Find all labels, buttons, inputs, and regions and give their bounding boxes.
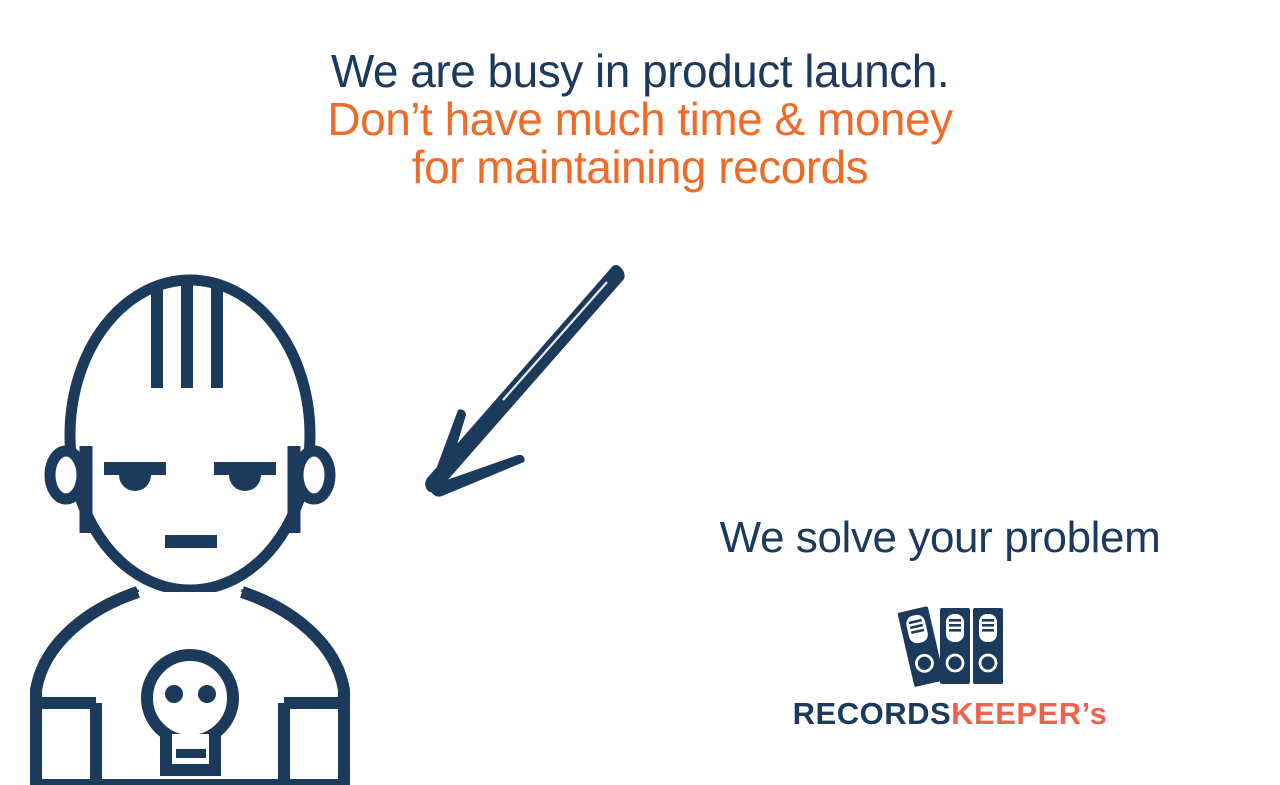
headline-line-3: for maintaining records xyxy=(0,144,1280,192)
binder-1 xyxy=(897,606,944,687)
headline-block: We are busy in product launch. Don’t hav… xyxy=(0,48,1280,191)
arrow-shaft xyxy=(425,265,624,493)
binder-2 xyxy=(940,608,970,684)
headline-line-2: Don’t have much time & money xyxy=(0,96,1280,144)
headline-line-1: We are busy in product launch. xyxy=(0,48,1280,96)
binder-3 xyxy=(973,608,1003,684)
left-ear-icon xyxy=(50,451,82,499)
recordskeeper-logo[interactable]: RECORDSKEEPER’s xyxy=(790,600,1110,732)
logo-wordmark-suffix: ’s xyxy=(1082,696,1108,731)
promo-banner: We are busy in product launch. Don’t hav… xyxy=(0,0,1280,780)
three-binders-icon xyxy=(890,600,1010,688)
arrow-shaft-highlight xyxy=(503,282,607,400)
solve-tagline: We solve your problem xyxy=(640,513,1240,563)
mouth-icon xyxy=(165,535,217,548)
bored-person-illustration xyxy=(20,270,400,785)
logo-wordmark-keeper: KEEPER xyxy=(951,696,1081,731)
logo-wordmark-records: RECORDS xyxy=(793,696,952,731)
right-ear-icon xyxy=(298,451,330,499)
hand-drawn-arrow-icon xyxy=(395,260,645,510)
logo-wordmark: RECORDSKEEPER’s xyxy=(790,696,1110,732)
